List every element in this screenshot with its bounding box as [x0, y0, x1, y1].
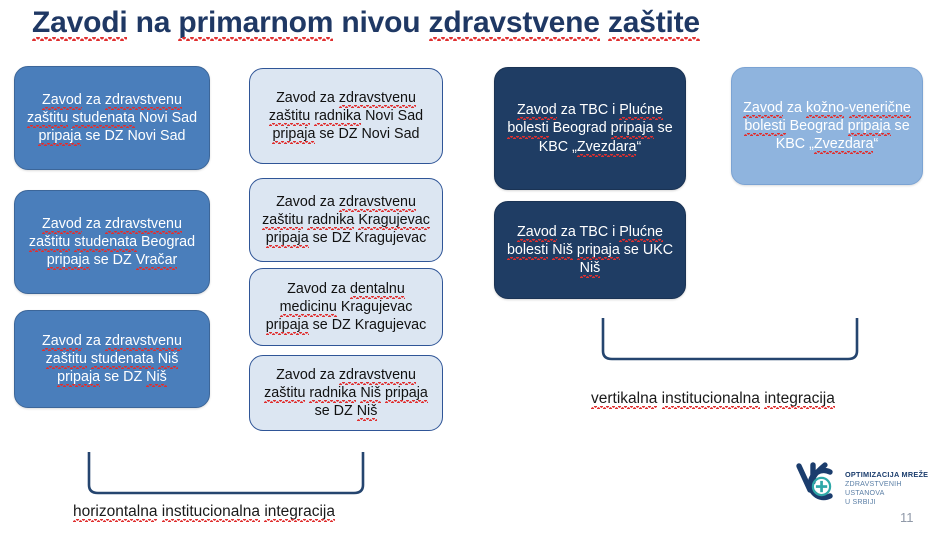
org-box-text: Zavod za zdravstvenu zaštitu studenata N…: [24, 91, 200, 146]
org-box-students-nis[interactable]: Zavod za zdravstvenu zaštitu studenata N…: [14, 310, 210, 408]
logo-mark-icon: [795, 462, 843, 506]
bracket-vertical-label: vertikalna institucionalna integracija: [591, 390, 835, 408]
logo-line-1: OPTIMIZACIJA MREŽE: [845, 470, 940, 480]
org-box-text: Zavod za zdravstvenu zaštitu radnika Nov…: [259, 89, 433, 144]
org-box-dermato-beograd[interactable]: Zavod za kožno-venerične bolesti Beograd…: [731, 67, 923, 185]
org-box-text: Zavod za zdravstvenu zaštitu studenata N…: [24, 332, 200, 387]
slide-canvas: Zavodi na primarnom nivou zdravstvene za…: [0, 0, 940, 538]
org-box-text: Zavod za dentalnu medicinu Kragujevac pr…: [259, 280, 433, 335]
page-number: 11: [900, 510, 914, 525]
org-box-tbc-beograd[interactable]: Zavod za TBC i Plućne bolesti Beograd pr…: [494, 67, 686, 190]
org-box-text: Zavod za TBC i Plućne bolesti Beograd pr…: [504, 101, 676, 156]
logo-line-2: ZDRAVSTVENIH USTANOVA: [845, 480, 940, 499]
org-box-text: Zavod za kožno-venerične bolesti Beograd…: [741, 99, 913, 154]
org-box-workers-nis[interactable]: Zavod za zdravstvenu zaštitu radnika Niš…: [249, 355, 443, 431]
org-box-students-beograd[interactable]: Zavod za zdravstvenu zaštitu studenata B…: [14, 190, 210, 294]
org-box-workers-novi-sad[interactable]: Zavod za zdravstvenu zaštitu radnika Nov…: [249, 68, 443, 164]
org-box-workers-kragujevac[interactable]: Zavod za zdravstvenu zaštitu radnika Kra…: [249, 178, 443, 262]
logo-line-3: U SRBIJI: [845, 498, 940, 507]
org-box-text: Zavod za TBC i Plućne bolesti Niš pripaj…: [504, 223, 676, 278]
organization-logo: OPTIMIZACIJA MREŽE ZDRAVSTVENIH USTANOVA…: [795, 462, 940, 510]
bracket-vertical-integration: [600, 318, 860, 363]
logo-text: OPTIMIZACIJA MREŽE ZDRAVSTVENIH USTANOVA…: [845, 470, 940, 508]
org-box-text: Zavod za zdravstvenu zaštitu radnika Niš…: [259, 366, 433, 421]
page-title: Zavodi na primarnom nivou zdravstvene za…: [32, 6, 732, 41]
bracket-horizontal-integration: [86, 452, 366, 497]
org-box-tbc-nis[interactable]: Zavod za TBC i Plućne bolesti Niš pripaj…: [494, 201, 686, 299]
org-box-text: Zavod za zdravstvenu zaštitu studenata B…: [24, 215, 200, 270]
org-box-students-novi-sad[interactable]: Zavod za zdravstvenu zaštitu studenata N…: [14, 66, 210, 170]
org-box-dental-kragujevac[interactable]: Zavod za dentalnu medicinu Kragujevac pr…: [249, 268, 443, 346]
org-box-text: Zavod za zdravstvenu zaštitu radnika Kra…: [259, 193, 433, 248]
bracket-horizontal-label: horizontalna institucionalna integracija: [73, 503, 335, 521]
